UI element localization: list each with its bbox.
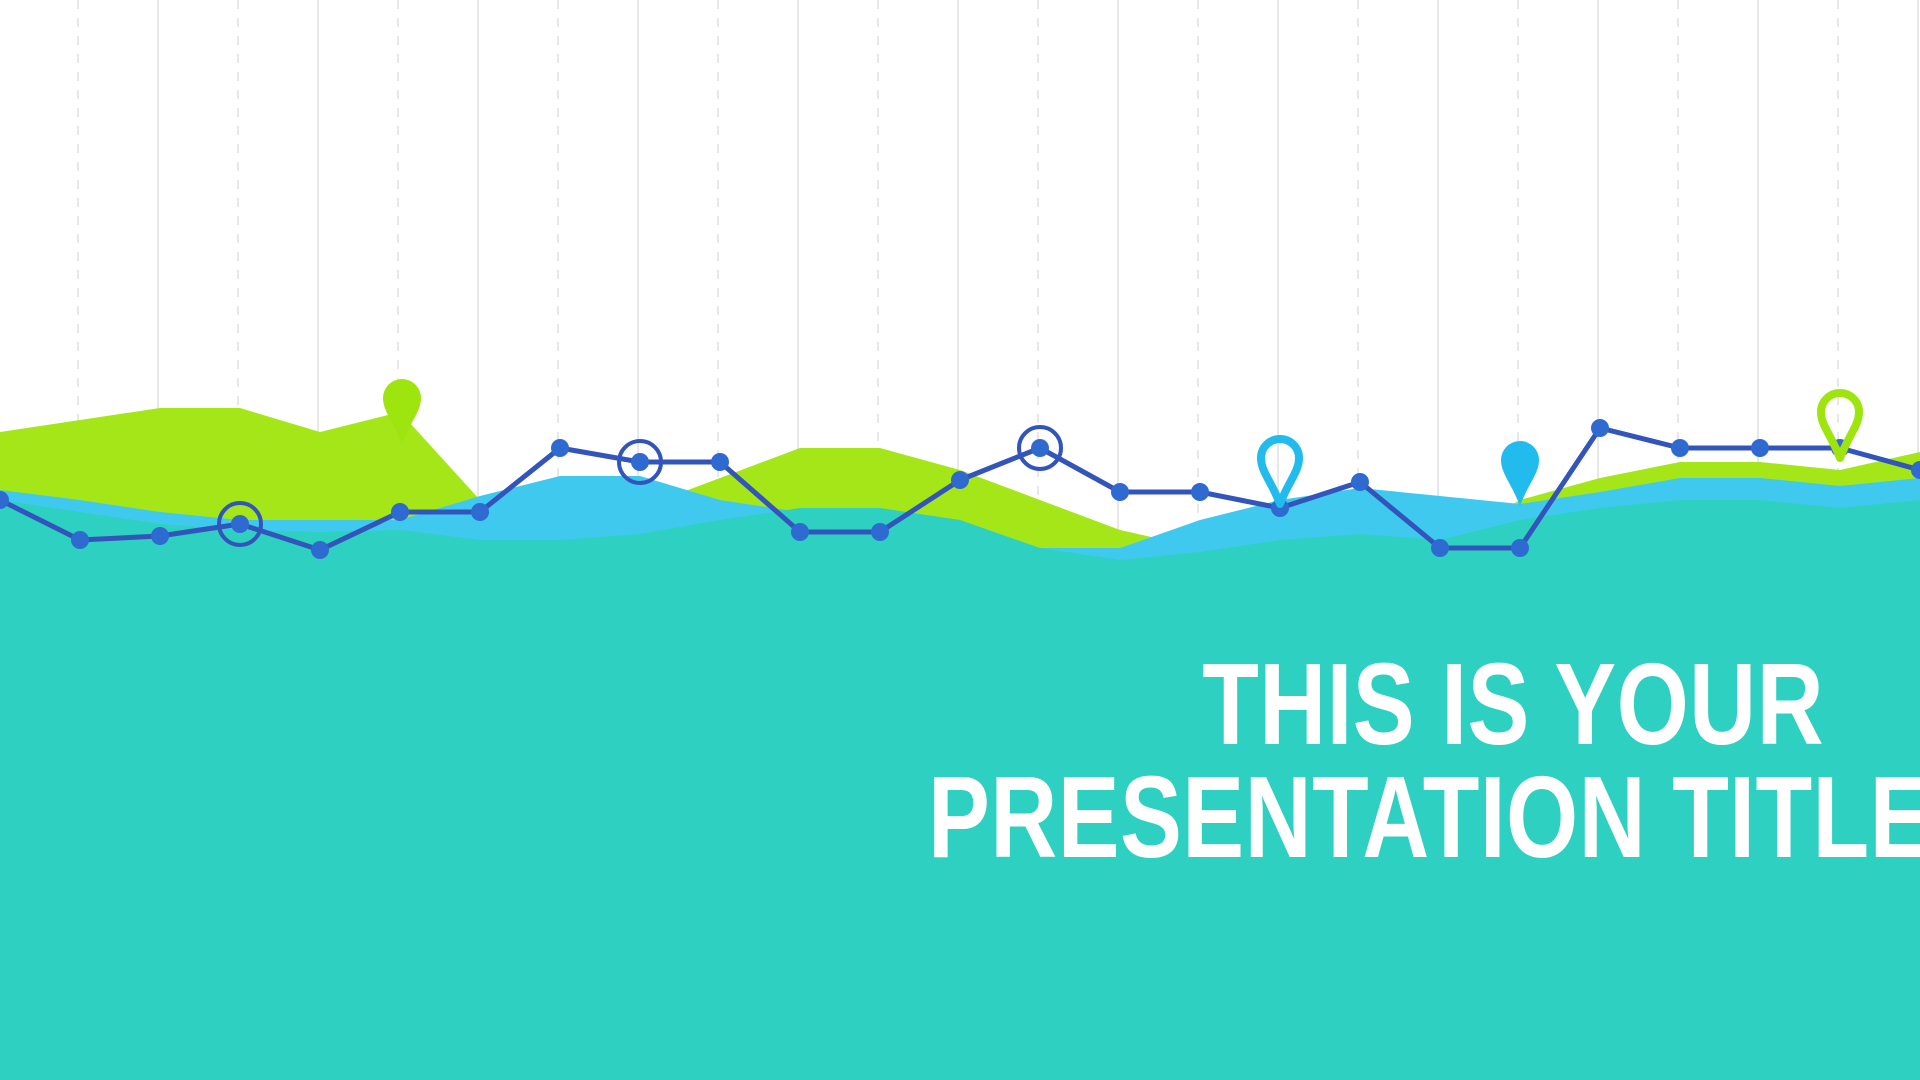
line-marker-dot — [1511, 539, 1529, 557]
line-marker-dot — [551, 439, 569, 457]
line-marker-dot — [871, 523, 889, 541]
line-marker-dot — [1671, 439, 1689, 457]
line-marker-dot — [471, 503, 489, 521]
title-block: THIS IS YOUR PRESENTATION TITLE — [704, 648, 1824, 873]
line-marker-dot — [1591, 419, 1609, 437]
line-marker-dot — [791, 523, 809, 541]
page-title-line-2: PRESENTATION TITLE — [928, 761, 1824, 874]
line-marker-dot — [951, 471, 969, 489]
line-marker-dot — [711, 453, 729, 471]
line-marker-dot — [1111, 483, 1129, 501]
line-marker-dot — [1351, 473, 1369, 491]
line-marker-dot — [1191, 483, 1209, 501]
line-marker-dot — [151, 527, 169, 545]
line-marker-dot — [1431, 539, 1449, 557]
line-marker-dot — [231, 515, 249, 533]
presentation-title-slide: THIS IS YOUR PRESENTATION TITLE — [0, 0, 1920, 1080]
line-marker-dot — [71, 531, 89, 549]
line-marker-dot — [1751, 439, 1769, 457]
line-marker-dot — [631, 453, 649, 471]
line-marker-dot — [391, 503, 409, 521]
decorative-chart-artwork — [0, 0, 1920, 1080]
page-title-line-1: THIS IS YOUR — [928, 648, 1824, 761]
line-marker-dot — [311, 541, 329, 559]
line-marker-dot — [1031, 439, 1049, 457]
